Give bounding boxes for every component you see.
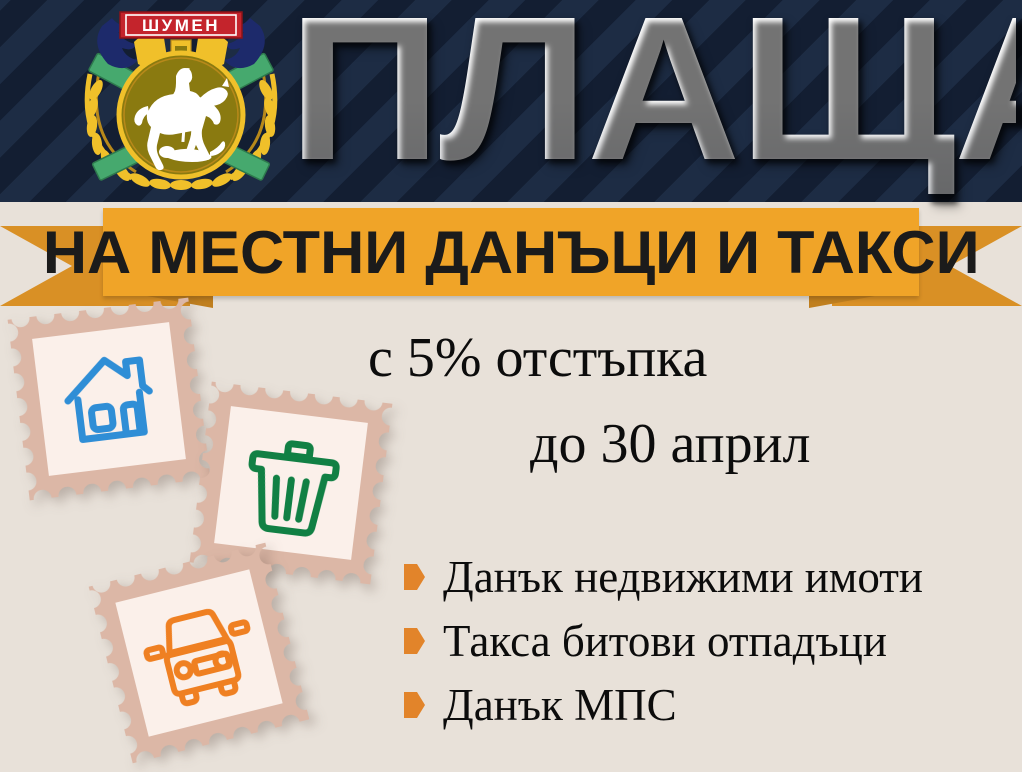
tax-type-list: Данък недвижими имоти Такса битови отпад… [404,548,1014,740]
list-item: Данък недвижими имоти [404,548,1014,606]
page-title: ПЛАЩАНЕ [288,0,1016,194]
crest-banner: ШУМЕН [120,12,242,38]
stamp-vehicle-tax [89,543,310,764]
svg-text:ШУМЕН: ШУМЕН [142,16,220,35]
discount-line: с 5% отстъпка [368,326,707,390]
list-item-label: Данък недвижими имоти [443,555,923,600]
bullet-arrow-icon [404,628,425,654]
bullet-arrow-icon [404,564,425,590]
list-item-label: Такса битови отпадъци [443,619,887,664]
ribbon-label: НА МЕСТНИ ДАНЪЦИ И ТАКСИ [43,218,980,287]
poster-root: ШУМЕН [0,0,1022,772]
list-item-label: Данък МПС [443,683,677,728]
list-item: Данък МПС [404,676,1014,734]
shumen-coat-of-arms-icon: ШУМЕН [72,2,290,198]
ribbon-banner: НА МЕСТНИ ДАНЪЦИ И ТАКСИ [103,208,919,296]
bullet-arrow-icon [404,692,425,718]
deadline-line: до 30 април [530,412,811,476]
ribbon: НА МЕСТНИ ДАНЪЦИ И ТАКСИ [0,204,1022,306]
list-item: Такса битови отпадъци [404,612,1014,670]
stamp-property-tax [8,298,211,501]
